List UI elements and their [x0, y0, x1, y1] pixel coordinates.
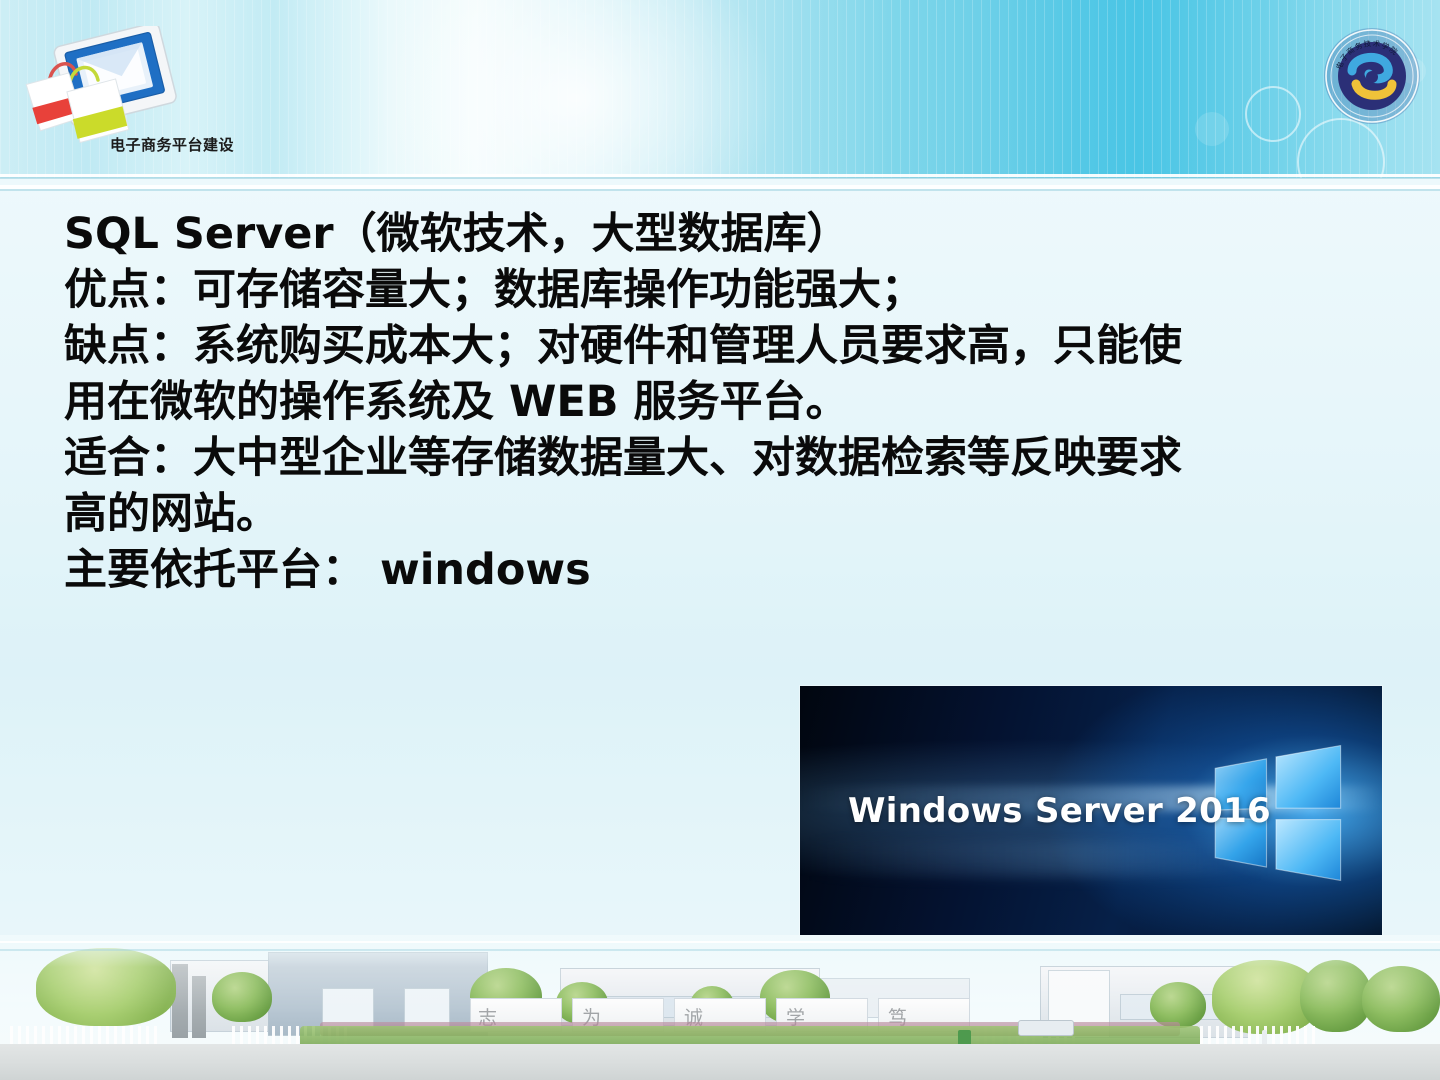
campus-fence-far-right — [1200, 1026, 1320, 1046]
brand-logo: 电子商务平台建设 — [14, 26, 234, 144]
campus-tree-9 — [1362, 966, 1440, 1032]
header-bubble-1 — [1245, 86, 1301, 142]
windows-light-ray-secondary — [800, 841, 1266, 876]
campus-tree-1 — [36, 948, 176, 1026]
slide-body-text: SQL Server（微软技术，大型数据库） 优点：可存储容量大；数据库操作功能… — [64, 206, 1394, 598]
campus-road — [0, 1044, 1440, 1080]
brand-label: 电子商务平台建设 — [110, 134, 234, 155]
header-glow — [374, 0, 777, 178]
campus-fence-left — [10, 1026, 160, 1046]
campus-top-divider-2 — [0, 949, 1440, 951]
body-line-1: SQL Server（微软技术，大型数据库） — [64, 206, 1394, 262]
windows-server-image: Windows Server 2016 — [800, 686, 1382, 936]
body-line-6: 高的网站。 — [64, 486, 1394, 542]
body-line-7: 主要依托平台： windows — [64, 542, 1394, 598]
header-divider — [0, 166, 1440, 200]
campus-gate-pillar-left — [172, 964, 188, 1038]
body-line-3: 缺点：系统购买成本大；对硬件和管理人员要求高，只能使 — [64, 318, 1394, 374]
header-bubble-3 — [1195, 112, 1229, 146]
campus-bus — [1018, 1020, 1074, 1036]
campus-tree-2 — [212, 972, 272, 1022]
body-line-4: 用在微软的操作系统及 WEB 服务平台。 — [64, 374, 1394, 430]
campus-photo: 志 为 诚 学 笃 — [0, 935, 1440, 1080]
campus-gate-pillar-right — [192, 976, 206, 1038]
body-line-5: 适合：大中型企业等存储数据量大、对数据检索等反映要求 — [64, 430, 1394, 486]
windows-server-caption: Windows Server 2016 — [848, 791, 1271, 831]
body-line-2: 优点：可存储容量大；数据库操作功能强大； — [64, 262, 1394, 318]
college-emblem-icon: 电子商务技术学院 — [1322, 26, 1422, 126]
slide-root: 电子商务平台建设 电子商务技术学院 SQL Server（微软技术，大型数据库）… — [0, 0, 1440, 1080]
tablet-shopping-bags-icon — [14, 26, 194, 144]
campus-top-divider-1 — [0, 941, 1440, 943]
